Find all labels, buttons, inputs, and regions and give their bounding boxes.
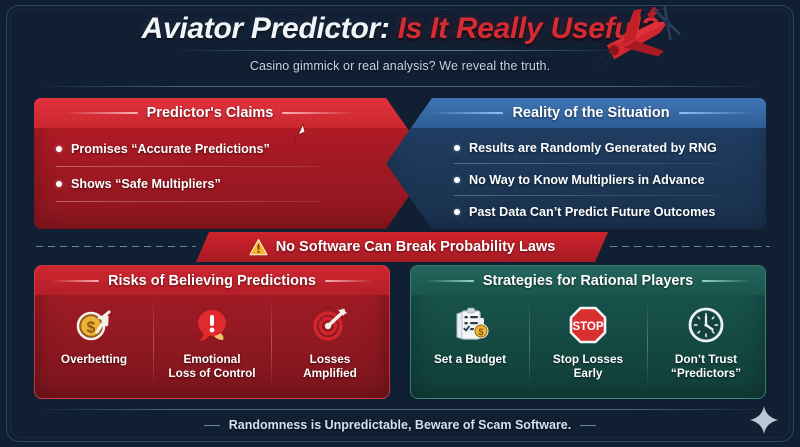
airplane-icon	[578, 6, 682, 78]
warning-banner-text: No Software Can Break Probability Laws	[276, 239, 556, 255]
header-divider	[42, 86, 758, 87]
bullet-dot-icon	[56, 181, 62, 187]
warning-banner-zone: No Software Can Break Probability Laws	[0, 232, 800, 262]
four-point-star-icon	[748, 404, 780, 436]
list-item-label: Don’t Trust “Predictors”	[671, 352, 741, 380]
list-item-label: Losses Amplified	[303, 352, 357, 380]
svg-text:$: $	[87, 320, 96, 337]
footer-dash-right	[580, 425, 596, 426]
list-item: Shows “Safe Multipliers”	[56, 167, 366, 201]
panel-reality-title: Reality of the Situation	[512, 105, 669, 121]
bullet-dot-icon	[454, 209, 460, 215]
list-item-label: Overbetting	[61, 352, 127, 366]
list-item-label: Emotional Loss of Control	[168, 352, 255, 380]
panel-predictors-claims: Predictor's Claims Promises “Accurate Pr…	[34, 98, 432, 229]
footer: Randomness is Unpredictable, Beware of S…	[0, 418, 800, 432]
title-primary: Aviator Predictor:	[142, 12, 390, 45]
header-rule-right	[702, 280, 750, 282]
header-rule-left	[426, 280, 474, 282]
panel-strategies: Strategies for Rational Players	[410, 265, 766, 399]
clock-icon	[685, 303, 727, 347]
infographic-poster: Aviator Predictor: Is It Really Useful? …	[0, 0, 800, 447]
header-rule-left	[51, 280, 99, 282]
banner-dashed-line-right	[610, 246, 770, 247]
list-item-label: Shows “Safe Multipliers”	[71, 177, 221, 191]
panel-claims-title: Predictor's Claims	[147, 105, 274, 121]
bullet-dot-icon	[454, 177, 460, 183]
speech-bubble-exclamation-icon	[191, 303, 233, 347]
list-item: $ Set a Budget	[411, 295, 529, 399]
list-item-label: Results are Randomly Generated by RNG	[469, 141, 717, 155]
list-item: No Way to Know Multipliers in Advance	[454, 164, 754, 195]
list-item-label: Past Data Can’t Predict Future Outcomes	[469, 205, 715, 219]
header-rule-right	[282, 112, 356, 114]
clipboard-checklist-coin-icon: $	[448, 303, 492, 347]
panel-claims-header: Predictor's Claims	[34, 98, 432, 128]
panel-reality-of-situation: Reality of the Situation Results are Ran…	[386, 98, 766, 229]
footer-dash-left	[204, 425, 220, 426]
cursor-pointer-icon	[282, 120, 312, 150]
header-rule-left	[64, 112, 138, 114]
banner-dashed-line-left	[36, 246, 196, 247]
list-item: Losses Amplified	[271, 295, 389, 399]
coin-dollar-up-arrow-icon: $	[73, 303, 115, 347]
panel-risks-title: Risks of Believing Predictions	[108, 273, 316, 289]
list-item-label: Promises “Accurate Predictions”	[71, 142, 270, 156]
strategies-items: $ Set a Budget STOP Stop Losses Early	[411, 295, 765, 399]
stop-sign-icon: STOP	[567, 303, 609, 347]
bullet-dot-icon	[454, 145, 460, 151]
list-item-label: Stop Losses Early	[553, 352, 623, 380]
list-item: $ Overbetting	[35, 295, 153, 399]
list-item: Results are Randomly Generated by RNG	[454, 132, 754, 163]
bottom-panels-row: Risks of Believing Predictions $ Ov	[34, 265, 766, 399]
list-item: Emotional Loss of Control	[153, 295, 271, 399]
target-arrow-icon	[309, 303, 351, 347]
list-item: STOP Stop Losses Early	[529, 295, 647, 399]
stop-sign-label: STOP	[572, 321, 603, 333]
bullet-dot-icon	[56, 146, 62, 152]
claims-bullet-list: Promises “Accurate Predictions” Shows “S…	[56, 132, 366, 202]
panel-reality-header: Reality of the Situation	[386, 98, 766, 128]
top-panels-row: Predictor's Claims Promises “Accurate Pr…	[34, 98, 766, 229]
header-rule-left	[429, 112, 503, 114]
warning-triangle-icon	[249, 238, 268, 257]
list-divider	[56, 201, 320, 202]
footer-divider	[42, 409, 758, 410]
svg-text:$: $	[478, 327, 483, 337]
header: Aviator Predictor: Is It Really Useful? …	[0, 0, 800, 92]
panel-risks: Risks of Believing Predictions $ Ov	[34, 265, 390, 399]
list-item: Promises “Accurate Predictions”	[56, 132, 366, 166]
footer-text: Randomness is Unpredictable, Beware of S…	[229, 418, 571, 432]
risks-items: $ Overbetting	[35, 295, 389, 399]
header-rule-right	[679, 112, 753, 114]
list-item: Past Data Can’t Predict Future Outcomes	[454, 196, 754, 227]
header-rule-right	[325, 280, 373, 282]
panel-risks-header: Risks of Believing Predictions	[35, 266, 389, 296]
warning-banner: No Software Can Break Probability Laws	[196, 232, 608, 262]
list-item: Don’t Trust “Predictors”	[647, 295, 765, 399]
list-item-label: No Way to Know Multipliers in Advance	[469, 173, 705, 187]
list-item-label: Set a Budget	[434, 352, 506, 366]
reality-bullet-list: Results are Randomly Generated by RNG No…	[454, 132, 754, 227]
panel-strategies-header: Strategies for Rational Players	[411, 266, 765, 296]
title-divider	[170, 50, 630, 51]
panel-strategies-title: Strategies for Rational Players	[483, 273, 693, 289]
